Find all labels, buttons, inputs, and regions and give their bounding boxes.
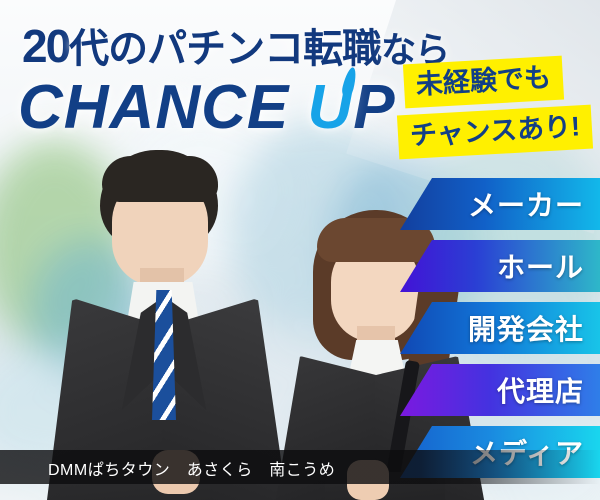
headline-body: 代のパチンコ転職 [69, 27, 381, 71]
male-model-photo [40, 150, 290, 500]
logo-chance-text: CHANCE [18, 73, 307, 142]
tag-agency[interactable]: 代理店 [400, 364, 600, 416]
logo-p-letter: P [353, 73, 395, 142]
headline-number: 20 [22, 20, 69, 72]
badge-no-experience: 未経験でも [403, 56, 564, 109]
tag-maker[interactable]: メーカー [400, 178, 600, 230]
tag-developer[interactable]: 開発会社 [400, 302, 600, 354]
chance-up-logo: CHANCE UP [18, 72, 396, 143]
category-tag-list: メーカー ホール 開発会社 代理店 メディア [400, 178, 600, 488]
tag-hall[interactable]: ホール [400, 240, 600, 292]
advertisement-banner[interactable]: 20代のパチンコ転職なら CHANCE UP 未経験でも チャンスあり! メーカ… [0, 0, 600, 500]
credit-text: DMMぱちタウン あさくら 南こうめ [48, 456, 335, 480]
logo-u-letter: U [307, 73, 353, 142]
headline-text: 20代のパチンコ転職なら [22, 16, 449, 74]
